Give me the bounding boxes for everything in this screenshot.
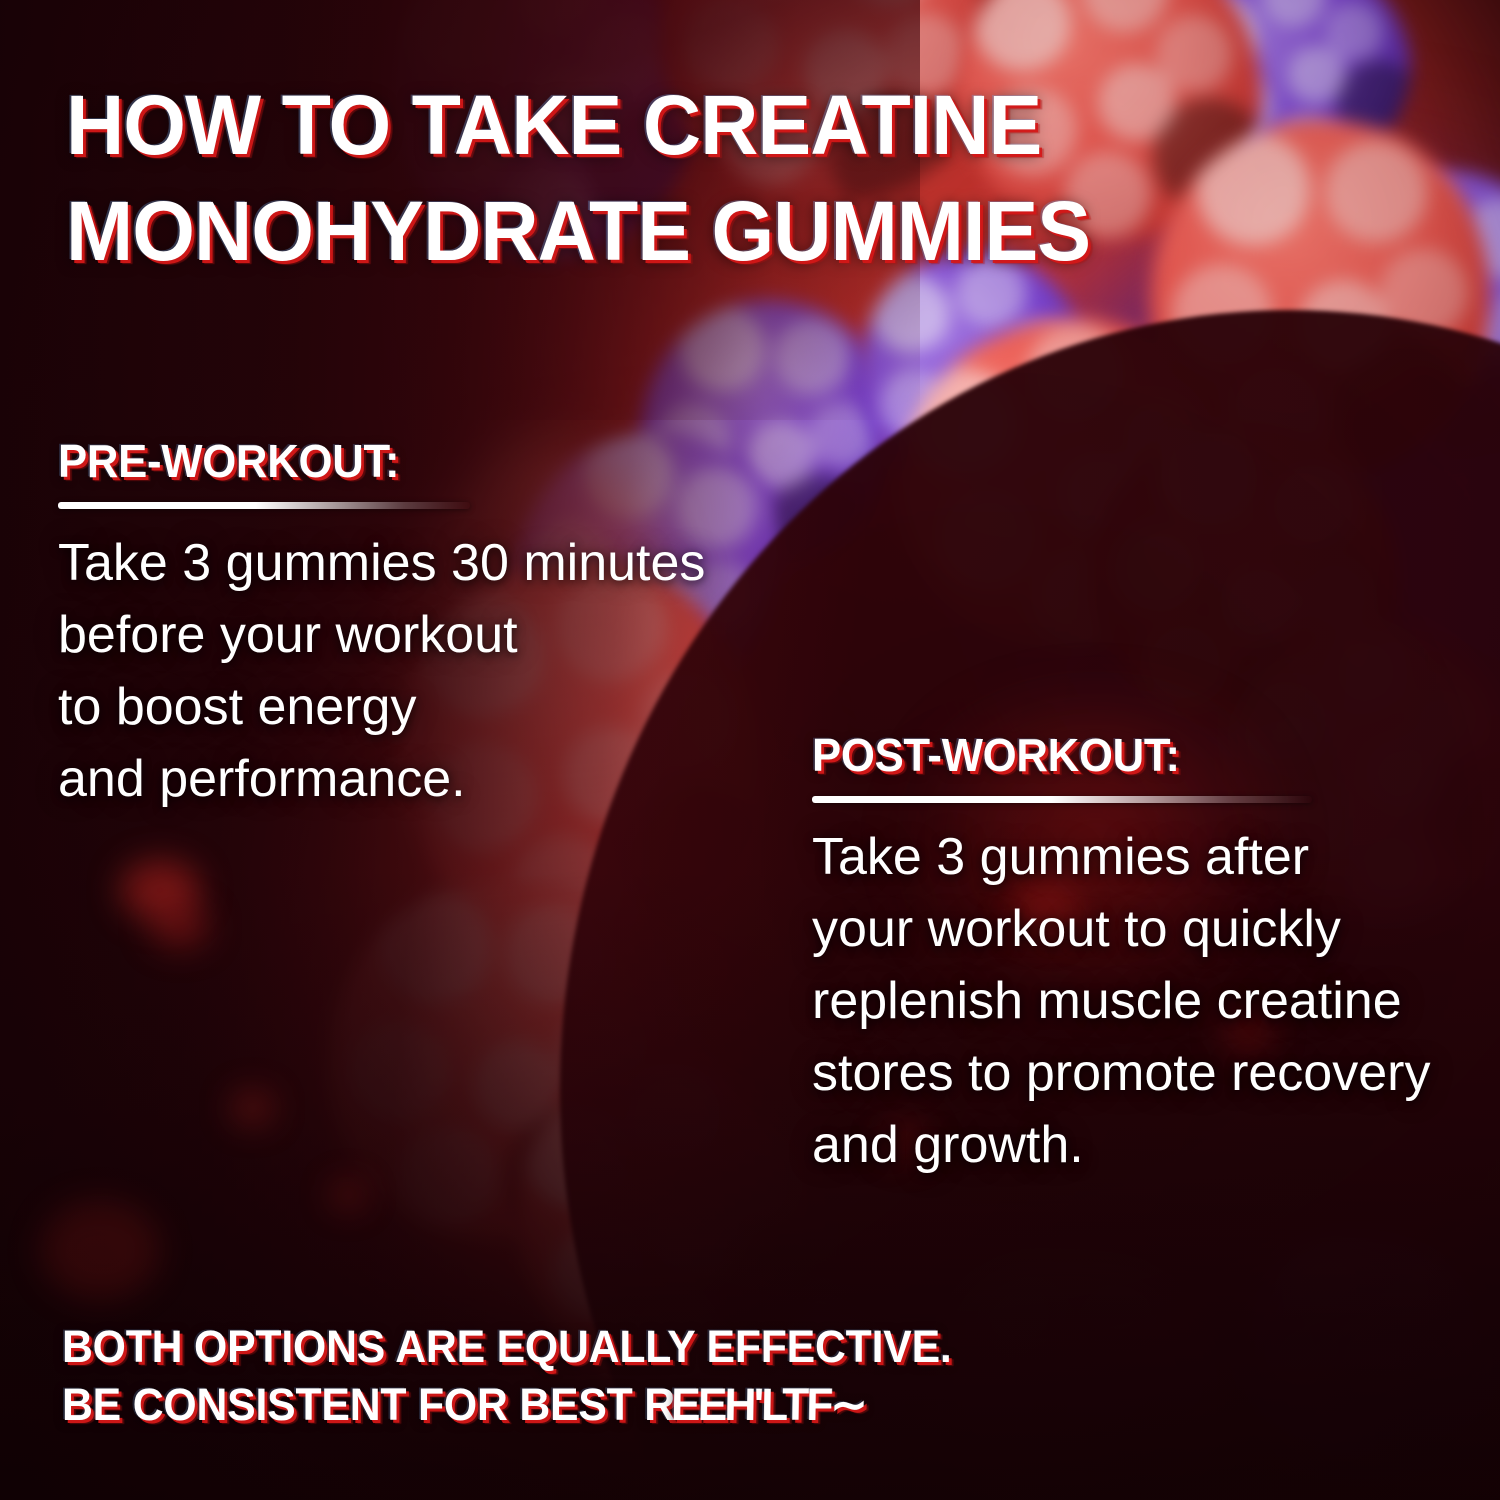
footer-callout: BOTH OPTIONS ARE EQUALLY EFFECTIVE. BE C… — [62, 1318, 1354, 1434]
footer-line-2: BE CONSISTENT FOR BEST REEH'LTF∼ — [62, 1376, 1354, 1434]
infographic-poster: HOW TO TAKE CREATINE MONOHYDRATE GUMMIES… — [0, 0, 1500, 1500]
post-workout-body: Take 3 gummies after your workout to qui… — [812, 821, 1482, 1181]
post-workout-body-line-4: stores to promote recovery — [812, 1037, 1482, 1109]
pre-workout-body-line-4: and performance. — [58, 743, 778, 815]
title-line-2: MONOHYDRATE GUMMIES — [66, 178, 1420, 284]
footer-line-2-glitch-text: EEH'LTF∼ — [671, 1376, 866, 1434]
pre-workout-body-line-3: to boost energy — [58, 671, 778, 743]
title-line-1: HOW TO TAKE CREATINE — [66, 78, 1041, 172]
post-workout-heading: POST-WORKOUT: — [812, 728, 1449, 782]
footer-line-1: BOTH OPTIONS ARE EQUALLY EFFECTIVE. — [62, 1318, 1354, 1376]
content-layer: HOW TO TAKE CREATINE MONOHYDRATE GUMMIES… — [0, 0, 1500, 1500]
page-title: HOW TO TAKE CREATINE MONOHYDRATE GUMMIES — [66, 72, 1420, 284]
pre-workout-divider — [58, 502, 470, 509]
post-workout-divider — [812, 796, 1312, 803]
post-workout-body-line-3: replenish muscle creatine — [812, 965, 1482, 1037]
pre-workout-body-line-1: Take 3 gummies 30 minutes — [58, 527, 778, 599]
post-workout-body-line-2: your workout to quickly — [812, 893, 1482, 965]
section-pre-workout: PRE-WORKOUT: Take 3 gummies 30 minutes b… — [58, 434, 778, 815]
footer-line-2-prefix: BE CONSISTENT FOR BEST R — [62, 1379, 675, 1430]
post-workout-body-line-5: and growth. — [812, 1109, 1482, 1181]
section-post-workout: POST-WORKOUT: Take 3 gummies after your … — [812, 728, 1482, 1181]
post-workout-body-line-1: Take 3 gummies after — [812, 821, 1482, 893]
pre-workout-body: Take 3 gummies 30 minutes before your wo… — [58, 527, 778, 815]
pre-workout-body-line-2: before your workout — [58, 599, 778, 671]
pre-workout-heading: PRE-WORKOUT: — [58, 434, 742, 488]
